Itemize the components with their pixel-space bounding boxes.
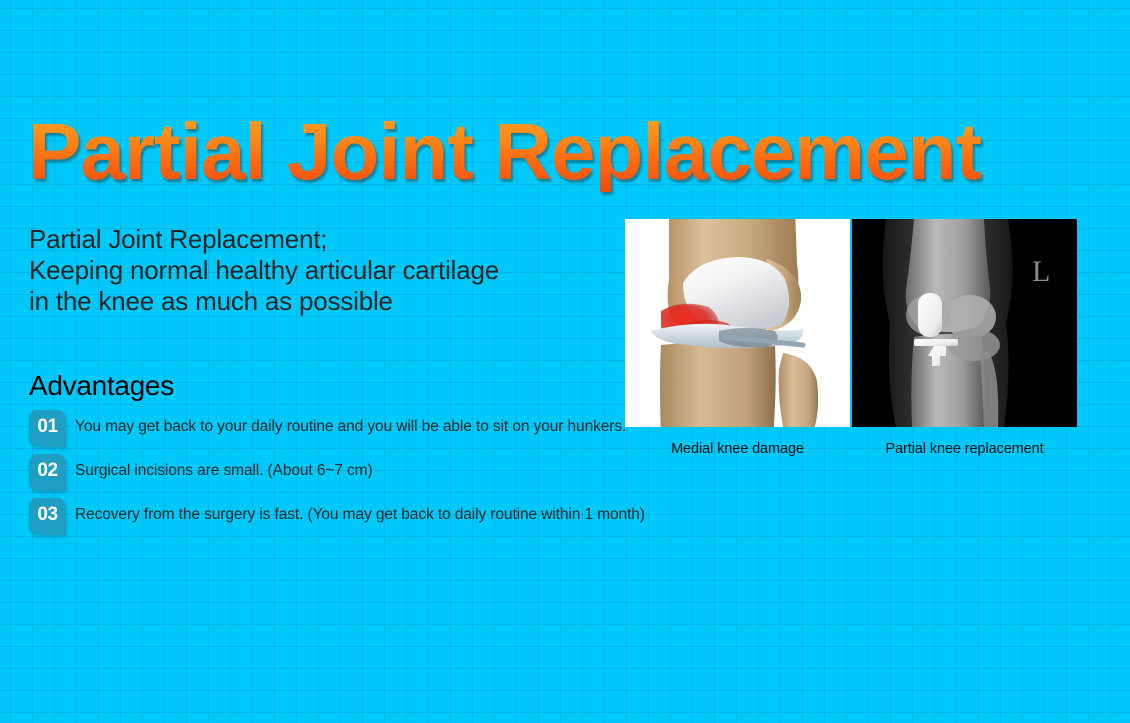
- advantage-text: You may get back to your daily routine a…: [75, 418, 626, 436]
- subtitle-line-3: in the knee as much as possible: [29, 286, 499, 317]
- femoral-implant-component: [918, 293, 942, 337]
- knee-xray-icon: L: [852, 219, 1077, 427]
- xray-side-marker: L: [1032, 255, 1050, 288]
- subtitle-block: Partial Joint Replacement; Keeping norma…: [29, 224, 499, 317]
- advantage-text: Recovery from the surgery is fast. (You …: [75, 506, 645, 524]
- page-title: Partial Joint Replacement: [28, 112, 981, 192]
- knee-anatomy-illustration: [625, 219, 850, 427]
- advantage-number-badge: 01: [29, 410, 66, 447]
- tibial-implant-tray: [914, 339, 958, 346]
- knee-xray-image: L: [852, 219, 1077, 427]
- list-item: 01 You may get back to your daily routin…: [29, 410, 659, 454]
- subtitle-line-1: Partial Joint Replacement;: [29, 224, 499, 255]
- list-item: 03 Recovery from the surgery is fast. (Y…: [29, 498, 659, 542]
- figure-caption-left: Medial knee damage: [625, 441, 850, 457]
- advantage-text: Surgical incisions are small. (About 6~7…: [75, 462, 373, 480]
- figure-caption-right: Partial knee replacement: [852, 441, 1077, 457]
- knee-anatomy-icon: [625, 219, 850, 427]
- subtitle-line-2: Keeping normal healthy articular cartila…: [29, 255, 499, 286]
- advantage-number-badge: 02: [29, 454, 66, 491]
- advantages-list: 01 You may get back to your daily routin…: [29, 410, 659, 542]
- slide-canvas: Partial Joint Replacement Partial Joint …: [0, 0, 1130, 723]
- tibia-shape: [660, 341, 776, 427]
- advantage-number-badge: 03: [29, 498, 66, 535]
- advantages-heading: Advantages: [29, 370, 174, 402]
- list-item: 02 Surgical incisions are small. (About …: [29, 454, 659, 498]
